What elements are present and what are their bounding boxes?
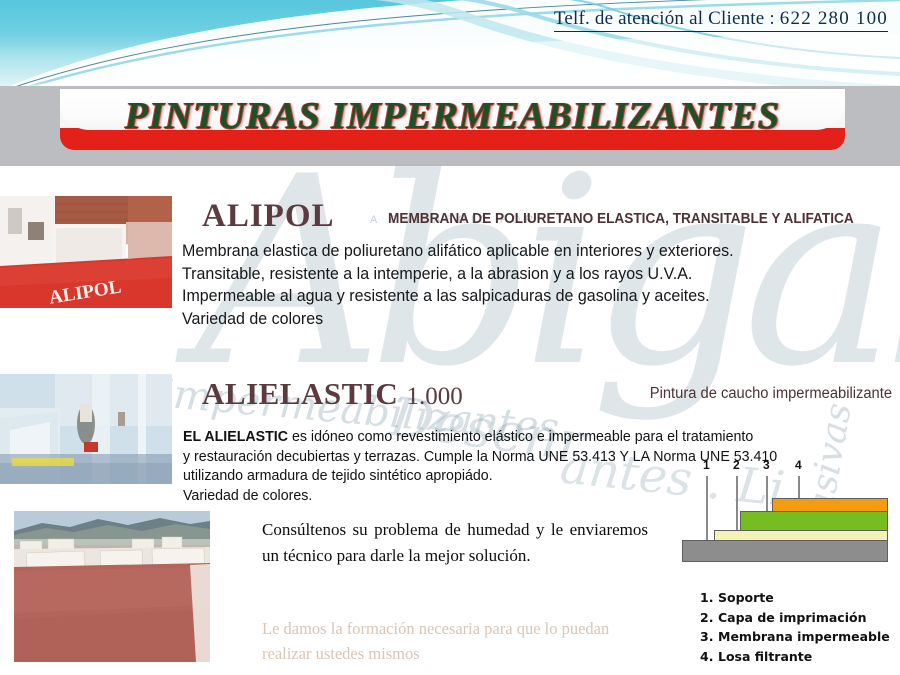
alielastic-name: ALIELASTIC: [202, 376, 398, 411]
legend-item-1: 1.Soporte: [700, 588, 890, 608]
diagram-leader-2: [736, 476, 738, 532]
legend-label-4: Losa filtrante: [718, 649, 812, 664]
phone-number: 622 280 100: [780, 8, 888, 29]
legend-index-3: 3.: [700, 627, 718, 647]
alipol-line-1: Membrana elastica de poliuretano alifáti…: [182, 240, 878, 263]
diagram-callout-1: 1: [703, 458, 710, 472]
legend-label-2: Capa de imprimación: [718, 610, 866, 625]
product-title-alielastic: ALIELASTIC 1.000: [202, 376, 463, 412]
page-title: PINTURAS IMPERMEABILIZANTES: [60, 94, 845, 138]
diagram-legend: 1.Soporte 2.Capa de imprimación 3.Membra…: [700, 588, 890, 666]
alielastic-lead: EL ALIELASTIC: [183, 429, 288, 445]
diagram-callout-2: 2: [733, 458, 740, 472]
diagram-layer-soporte: [682, 540, 888, 562]
alielastic-line-1-rest: es idóneo como revestimiento elástico e …: [288, 429, 753, 445]
photo-alipol-terrace: ALIPOL: [0, 178, 172, 326]
alipol-line-2: Transitable, resistente a la intemperie,…: [182, 263, 878, 286]
brochure-page: Telf. de atención al Cliente : 622 280 1…: [0, 0, 900, 675]
diagram-leader-1: [706, 476, 708, 548]
alielastic-line-1: EL ALIELASTIC es idóneo como revestimien…: [183, 428, 886, 448]
photo-rooftop-terrace: [8, 505, 216, 668]
diagram-layer-capa-de-imprimacion: [714, 530, 888, 541]
legend-index-1: 1.: [700, 588, 718, 608]
consult-paragraph: Consúltenos su problema de humedad y le …: [262, 517, 648, 569]
alielastic-number: 1.000: [407, 383, 463, 410]
diagram-leader-3: [766, 476, 768, 512]
diagram-layer-membrana-impermeable: [740, 511, 888, 531]
product-title-alipol: ALIPOL: [202, 198, 335, 235]
alipol-line-4: Variedad de colores: [182, 308, 878, 331]
product-description-alipol: Membrana elastica de poliuretano alifáti…: [182, 240, 878, 330]
legend-label-1: Soporte: [718, 590, 774, 605]
legend-index-4: 4.: [700, 647, 718, 667]
diagram-layer-losa-filtrante: [772, 498, 888, 512]
product-subtitle-alielastic: Pintura de caucho impermeabilizante: [650, 385, 892, 403]
training-paragraph: Le damos la formación necesaria para que…: [262, 616, 652, 666]
customer-phone: Telf. de atención al Cliente : 622 280 1…: [554, 8, 888, 32]
legend-index-2: 2.: [700, 608, 718, 628]
diagram-callout-3: 3: [763, 458, 770, 472]
legend-item-4: 4.Losa filtrante: [700, 647, 890, 667]
diagram-leader-4: [798, 476, 800, 499]
product-subtitle-alipol: MEMBRANA DE POLIURETANO ELASTICA, TRANSI…: [388, 211, 854, 227]
legend-label-3: Membrana impermeable: [718, 629, 890, 644]
layer-diagram: 1 2 3 4: [678, 458, 894, 564]
alipol-line-3: Impermeable al agua y resistente a las s…: [182, 285, 878, 308]
phone-label: Telf. de atención al Cliente :: [554, 8, 775, 29]
legend-item-2: 2.Capa de imprimación: [700, 608, 890, 628]
photo-alielastic-pool: [0, 358, 172, 491]
diagram-callout-4: 4: [795, 458, 802, 472]
legend-item-3: 3.Membrana impermeable: [700, 627, 890, 647]
